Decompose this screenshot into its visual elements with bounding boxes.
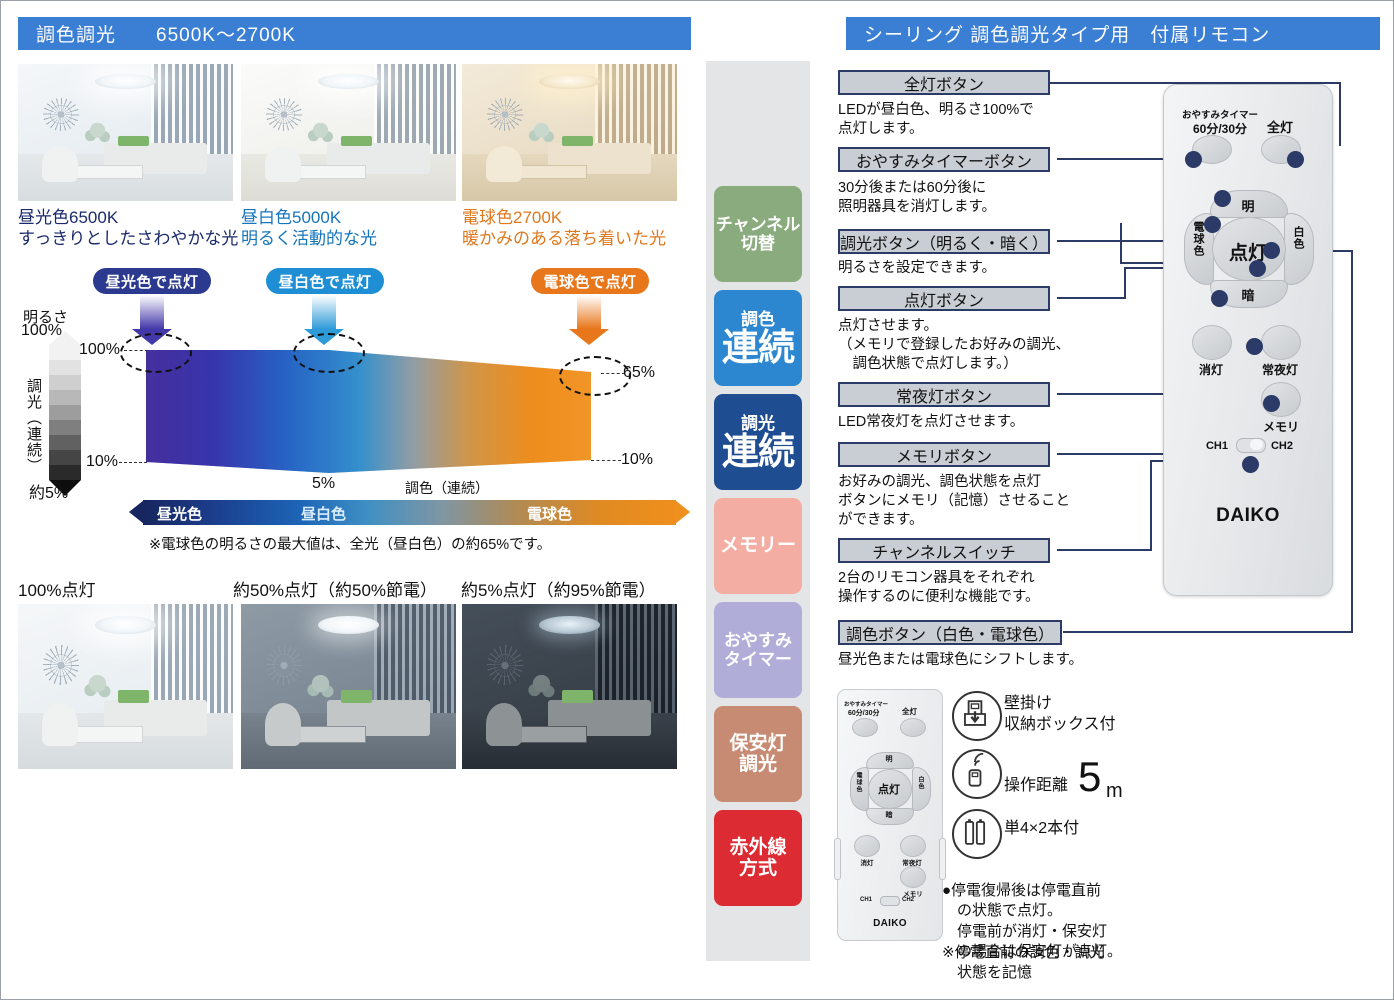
dim-example-label-50: 約50%点灯（約50%節電） bbox=[233, 576, 437, 601]
callout-all-light-desc: LEDが昼白色、明るさ100%で 点灯します。 bbox=[838, 101, 1034, 139]
accessory-range-text: 操作距離 bbox=[1004, 776, 1068, 797]
badge-memory-label: メモリー bbox=[720, 535, 796, 556]
mode-desc-daylight: すっきりとしたさわやかな光 bbox=[18, 228, 238, 249]
color-axis-left-arrow bbox=[129, 500, 144, 524]
badge-dimming-label: 調光 bbox=[741, 414, 775, 433]
highlight-ellipse-bulbcolor bbox=[559, 356, 631, 396]
callout-power-button[interactable]: 点灯ボタン bbox=[838, 286, 1050, 311]
pill-bulbcolor: 電球色で点灯 bbox=[531, 268, 649, 294]
remote-night-light-label: 常夜灯 bbox=[1255, 361, 1305, 378]
badge-sleep-timer-line2: タイマー bbox=[724, 650, 792, 669]
callout-channel-switch-desc: 2台のリモコン器具をそれぞれ 操作するのに便利な機能です。 bbox=[838, 569, 1040, 607]
color-axis-label-daywhite: 昼白色 bbox=[301, 503, 346, 524]
dot-memory bbox=[1263, 395, 1280, 412]
badge-infrared-line1: 赤外線 bbox=[729, 837, 786, 858]
dot-bulbcolor bbox=[1204, 216, 1221, 233]
ytick-10: 10% bbox=[86, 453, 118, 471]
callout-dimming-button[interactable]: 調光ボタン（明るく・暗く） bbox=[838, 229, 1050, 254]
badge-infrared-line2: 方式 bbox=[739, 858, 777, 879]
badge-color-tuning-label: 調色 bbox=[741, 310, 775, 329]
badge-color-tuning: 調色 連続 bbox=[714, 290, 802, 386]
dimscale-bottom-value: 約5% bbox=[29, 479, 68, 503]
dot-dark bbox=[1211, 290, 1228, 307]
page-root: 調色調光 6500K～2700K シーリング 調色調光タイプ用 付属リモコン 昼… bbox=[0, 0, 1394, 1000]
remote-channel-switch-knob[interactable] bbox=[1250, 439, 1263, 450]
left-header-title: 調色調光 bbox=[36, 20, 116, 47]
callout-memory-button-desc: お好みの調光、調色状態を点灯 ボタンにメモリ（記憶）させること ができます。 bbox=[838, 473, 1070, 530]
label-65: 65% bbox=[623, 364, 655, 382]
badge-color-tuning-value: 連続 bbox=[722, 329, 794, 367]
left-section-header: 調色調光 6500K～2700K bbox=[18, 17, 691, 50]
label-10-right-dash bbox=[591, 460, 621, 461]
remote-sleep-timer-value: 60分/30分 bbox=[1174, 120, 1266, 137]
remote-sleep-timer-label: おやすみタイマー bbox=[1174, 107, 1266, 121]
color-axis-right-arrow bbox=[675, 500, 690, 524]
highlight-ellipse-daylight bbox=[120, 333, 192, 373]
dim-example-photo-50 bbox=[241, 604, 456, 769]
feature-badge-column: チャンネル 切替 調色 連続 調光 連続 メモリー おやすみ タイマー 保安灯 … bbox=[706, 61, 810, 961]
remote-all-light-label: 全灯 bbox=[1254, 117, 1306, 136]
badge-safety-light: 保安灯 調光 bbox=[714, 706, 802, 802]
pill-daywhite: 昼白色で点灯 bbox=[266, 268, 384, 294]
mode-desc-bulbcolor: 暖かみのある落ち着いた光 bbox=[462, 228, 666, 249]
remote-off-button[interactable] bbox=[1192, 325, 1232, 360]
remote-range-icon bbox=[952, 749, 1002, 799]
badge-sleep-timer: おやすみ タイマー bbox=[714, 602, 802, 698]
badge-infrared: 赤外線 方式 bbox=[714, 810, 802, 906]
callout-sleep-timer-desc: 30分後または60分後に 照明器具を消灯します。 bbox=[838, 179, 996, 217]
color-axis-label-daylight: 昼光色 bbox=[157, 503, 202, 524]
callout-power-button-desc: 点灯させます。 （メモリで登録したお好みの調光、 調色状態で点灯します。） bbox=[838, 317, 1070, 374]
dot-power bbox=[1249, 260, 1266, 277]
dot-channel-switch bbox=[1242, 456, 1259, 473]
remote-night-light-button[interactable] bbox=[1261, 325, 1301, 360]
dim-example-label-5: 約5%点灯（約95%節電） bbox=[461, 576, 656, 601]
badge-memory: メモリー bbox=[714, 498, 802, 594]
badge-channel-line2: 切替 bbox=[741, 234, 775, 253]
callout-channel-switch[interactable]: チャンネルスイッチ bbox=[838, 538, 1050, 563]
accessory-range-value: 5 bbox=[1078, 756, 1101, 798]
remote-ch1-label: CH1 bbox=[1202, 440, 1232, 452]
mode-caption-bulbcolor: 電球色2700K 暖かみのある落ち着いた光 bbox=[462, 207, 666, 250]
ytick-10-dash bbox=[119, 462, 147, 463]
remote-off-label: 消灯 bbox=[1186, 361, 1236, 378]
callout-night-light-desc: LED常夜灯を点灯させます。 bbox=[838, 413, 1024, 432]
callout-color-button-desc: 昼光色または電球色にシフトします。 bbox=[838, 651, 1083, 670]
pill-daylight: 昼光色で点灯 bbox=[93, 268, 211, 294]
chart-footnote: ※電球色の明るさの最大値は、全光（昼白色）の約65%です。 bbox=[149, 533, 551, 554]
room-photo-daylight bbox=[18, 64, 233, 201]
room-photo-bulbcolor bbox=[462, 64, 677, 201]
chart-area-polygon bbox=[146, 350, 591, 473]
highlight-ellipse-daywhite bbox=[293, 333, 365, 373]
callout-night-light[interactable]: 常夜灯ボタン bbox=[838, 382, 1050, 407]
ytick-100: 100% bbox=[79, 341, 120, 359]
color-axis-bar: 昼光色 昼白色 電球色 bbox=[129, 500, 690, 525]
dot-sleep-timer bbox=[1185, 151, 1202, 168]
badge-dimming-value: 連続 bbox=[722, 433, 794, 471]
dot-bright bbox=[1214, 190, 1231, 207]
dot-whitecolor bbox=[1263, 242, 1280, 259]
mode-title-bulbcolor: 電球色2700K bbox=[462, 207, 666, 228]
badge-channel-switch: チャンネル 切替 bbox=[714, 186, 802, 282]
color-axis-label-bulbcolor: 電球色 bbox=[527, 503, 572, 524]
remote-ch2-label: CH2 bbox=[1267, 440, 1297, 452]
dim-example-photo-100 bbox=[18, 604, 233, 769]
mode-caption-daylight: 昼光色6500K すっきりとしたさわやかな光 bbox=[18, 207, 238, 250]
right-header-title: シーリング 調色調光タイプ用 付属リモコン bbox=[864, 20, 1270, 47]
callout-sleep-timer[interactable]: おやすみタイマーボタン bbox=[838, 147, 1050, 172]
label-10-right: 10% bbox=[621, 451, 653, 469]
label-65-dash bbox=[601, 373, 625, 374]
color-axis-gradient bbox=[143, 500, 676, 525]
remote-whitecolor-label: 白色 bbox=[1290, 226, 1306, 250]
arrow-bulbcolor bbox=[569, 295, 609, 345]
room-photo-daywhite bbox=[241, 64, 456, 201]
mode-title-daylight: 昼光色6500K bbox=[18, 207, 238, 228]
dim-example-photo-5 bbox=[462, 604, 677, 769]
battery-icon bbox=[952, 809, 1002, 859]
callout-dimming-button-desc: 明るさを設定できます。 bbox=[838, 259, 996, 278]
badge-safety-light-line1: 保安灯 bbox=[729, 733, 786, 754]
callout-all-light[interactable]: 全灯ボタン bbox=[838, 70, 1050, 95]
callout-memory-button[interactable]: メモリボタン bbox=[838, 442, 1050, 467]
dim-example-label-100: 100%点灯 bbox=[18, 576, 95, 601]
badge-safety-light-line2: 調光 bbox=[739, 754, 777, 775]
mode-title-daywhite: 昼白色5000K bbox=[241, 207, 377, 228]
dot-all-light bbox=[1287, 151, 1304, 168]
mode-caption-daywhite: 昼白色5000K 明るく活動的な光 bbox=[241, 207, 377, 250]
badge-channel-line1: チャンネル bbox=[716, 215, 801, 234]
right-section-header: シーリング 調色調光タイプ用 付属リモコン bbox=[846, 17, 1380, 50]
dimming-scale bbox=[49, 331, 81, 481]
remote-memory-label: メモリ bbox=[1255, 418, 1307, 435]
badge-dimming: 調光 連続 bbox=[714, 394, 802, 490]
left-header-subtitle: 6500K～2700K bbox=[156, 20, 296, 47]
axis-bar-caption: 調色（連続） bbox=[405, 478, 489, 498]
accessory-wall-mount-text: 壁掛け 収納ボックス付 bbox=[1004, 694, 1116, 736]
accessory-battery-text: 単4×2本付 bbox=[1004, 819, 1079, 840]
dimscale-side-label: 調光（連続） bbox=[23, 378, 44, 474]
label-5-mid: 5% bbox=[312, 475, 335, 493]
remote-brand-logo: DAIKO bbox=[1164, 505, 1332, 527]
dot-night-light bbox=[1246, 338, 1263, 355]
accessory-range-unit: m bbox=[1106, 780, 1123, 803]
note-memory-state: ※停電直前の調色・調光 状態を記憶 bbox=[942, 943, 1105, 984]
mode-desc-daywhite: 明るく活動的な光 bbox=[241, 228, 377, 249]
wall-mount-icon bbox=[952, 691, 1002, 741]
badge-sleep-timer-line1: おやすみ bbox=[724, 631, 792, 650]
remote-small-illustration: おやすみタイマー 60分/30分 全灯 明 電球色 白色 暗 点灯 消灯 常夜灯… bbox=[837, 689, 943, 941]
callout-color-button[interactable]: 調色ボタン（白色・電球色） bbox=[838, 620, 1062, 645]
